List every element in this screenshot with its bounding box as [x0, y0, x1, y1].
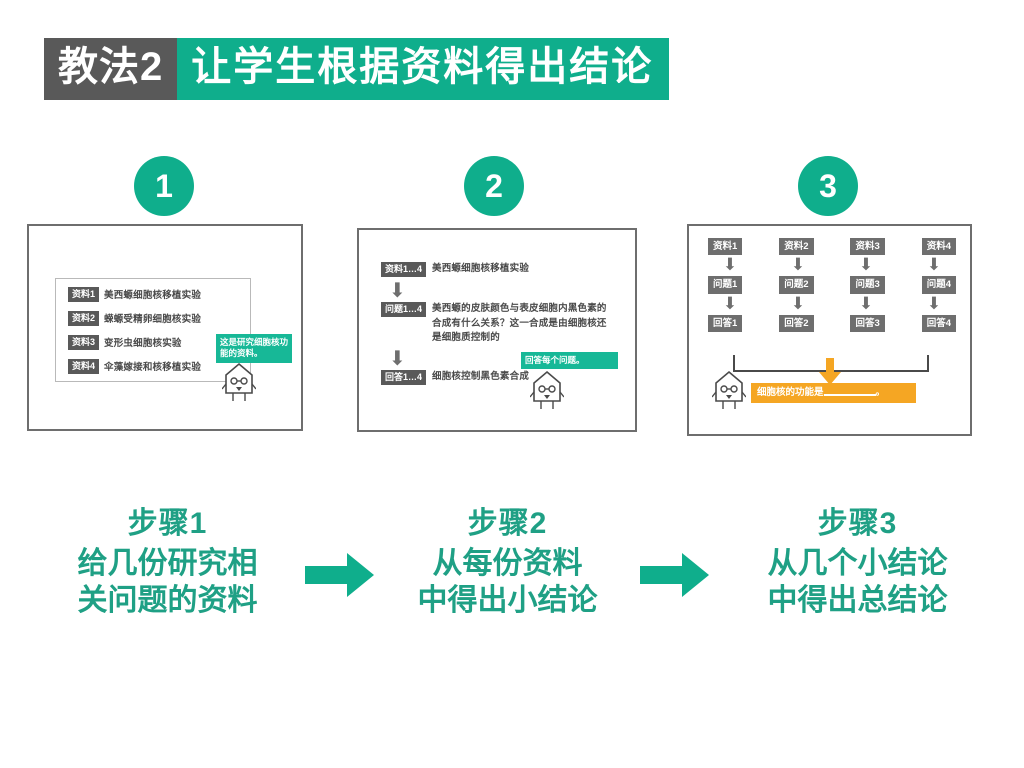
step-number-circle-1: 1 — [134, 156, 194, 216]
question-tag: 问题2 — [779, 276, 813, 293]
arrow-down-icon: ⬇ — [776, 257, 820, 274]
question-row: 问题1…4 美西螈的皮肤颜色与表皮细胞内黑色素的合成有什么关系？这一合成是由细胞… — [381, 302, 612, 346]
student-character-icon — [712, 370, 746, 410]
question-description: 美西螈的皮肤颜色与表皮细胞内黑色素的合成有什么关系？这一合成是由细胞核还是细胞质… — [432, 302, 612, 346]
page-title-bar: 教法2 让学生根据资料得出结论 — [44, 38, 669, 100]
conclusion-flow-grid: 资料1 资料2 资料3 资料4 ⬇ ⬇ ⬇ ⬇ 问题1 问题2 问题3 问题4 … — [708, 238, 956, 332]
material-description: 美西螈细胞核移植实验 — [432, 262, 529, 277]
arrow-down-icon: ⬇ — [776, 296, 820, 313]
material-row: 资料2 蝾螈受精卵细胞核实验 — [68, 311, 201, 326]
panel-step-1: 资料1 美西螈细胞核移植实验 资料2 蝾螈受精卵细胞核实验 资料3 变形虫细胞核… — [27, 224, 303, 431]
material-row: 资料3 变形虫细胞核实验 — [68, 335, 182, 350]
material-description: 变形虫细胞核实验 — [104, 335, 182, 349]
final-conclusion-box: 细胞核的功能是。 — [751, 383, 916, 403]
student-character-icon — [530, 370, 564, 410]
conclusion-blank — [824, 394, 876, 396]
question-tag: 问题1 — [708, 276, 742, 293]
step-description: 从几个小结论 中得出总结论 — [715, 545, 1000, 620]
page-title: 让学生根据资料得出结论 — [177, 38, 669, 100]
material-tag: 资料1…4 — [381, 262, 426, 277]
material-tag: 资料1 — [68, 287, 99, 302]
answer-tag: 回答1 — [708, 315, 742, 332]
question-tag: 问题4 — [922, 276, 956, 293]
arrow-down-icon: ⬇ — [912, 296, 956, 313]
materials-row: 资料1 资料2 资料3 资料4 — [708, 238, 956, 255]
arrow-down-icon: ⬇ — [844, 296, 888, 313]
material-row: 资料1…4 美西螈细胞核移植实验 — [381, 262, 529, 277]
speech-bubble-panel-2: 回答每个问题。 — [521, 352, 618, 369]
title-badge: 教法2 — [44, 38, 177, 100]
arrow-row: ⬇ ⬇ ⬇ ⬇ — [708, 257, 956, 274]
speech-bubble-panel-1: 这是研究细胞核功能的资料。 — [216, 334, 292, 363]
material-description: 伞藻嫁接和核移植实验 — [104, 359, 201, 373]
answer-tag: 回答1…4 — [381, 370, 426, 385]
flow-arrow-right-icon — [640, 552, 710, 598]
arrow-down-icon: ⬇ — [708, 296, 752, 313]
step-title: 步骤1 — [30, 505, 305, 543]
flow-arrow-right-icon — [305, 552, 375, 598]
answers-row: 回答1 回答2 回答3 回答4 — [708, 315, 956, 332]
conclusion-prefix: 细胞核的功能是 — [757, 387, 824, 398]
step-summary-1: 步骤1 给几份研究相 关问题的资料 — [30, 505, 305, 620]
material-row: 资料4 伞藻嫁接和核移植实验 — [68, 359, 201, 374]
step-title: 步骤2 — [380, 505, 635, 543]
step-summary-2: 步骤2 从每份资料 中得出小结论 — [380, 505, 635, 620]
answer-tag: 回答2 — [779, 315, 813, 332]
questions-row: 问题1 问题2 问题3 问题4 — [708, 276, 956, 293]
step-description: 从每份资料 中得出小结论 — [380, 545, 635, 620]
material-tag: 资料2 — [779, 238, 813, 255]
step-number-circle-2: 2 — [464, 156, 524, 216]
step-summary-3: 步骤3 从几个小结论 中得出总结论 — [715, 505, 1000, 620]
question-tag: 问题3 — [850, 276, 884, 293]
arrow-down-icon: ⬇ — [844, 257, 888, 274]
material-description: 美西螈细胞核移植实验 — [104, 287, 201, 301]
step-description: 给几份研究相 关问题的资料 — [30, 545, 305, 620]
answer-tag: 回答3 — [850, 315, 884, 332]
answer-description: 细胞核控制黑色素合成 — [432, 370, 529, 385]
arrow-down-icon: ⬇ — [389, 348, 406, 368]
question-tag: 问题1…4 — [381, 302, 426, 317]
arrow-down-icon: ⬇ — [389, 280, 406, 300]
conclusion-suffix: 。 — [876, 387, 886, 398]
material-tag: 资料3 — [68, 335, 99, 350]
arrow-down-icon: ⬇ — [708, 257, 752, 274]
arrow-down-icon: ⬇ — [912, 257, 956, 274]
material-tag: 资料3 — [850, 238, 884, 255]
step-title: 步骤3 — [715, 505, 1000, 543]
material-tag: 资料4 — [922, 238, 956, 255]
arrow-row: ⬇ ⬇ ⬇ ⬇ — [708, 296, 956, 313]
material-row: 资料1 美西螈细胞核移植实验 — [68, 287, 201, 302]
material-tag: 资料1 — [708, 238, 742, 255]
material-description: 蝾螈受精卵细胞核实验 — [104, 311, 201, 325]
material-tag: 资料4 — [68, 359, 99, 374]
answer-tag: 回答4 — [922, 315, 956, 332]
student-character-icon — [222, 362, 256, 402]
material-tag: 资料2 — [68, 311, 99, 326]
panel-step-2: 资料1…4 美西螈细胞核移植实验 ⬇ 问题1…4 美西螈的皮肤颜色与表皮细胞内黑… — [357, 228, 637, 432]
answer-row: 回答1…4 细胞核控制黑色素合成 — [381, 370, 529, 385]
step-number-circle-3: 3 — [798, 156, 858, 216]
